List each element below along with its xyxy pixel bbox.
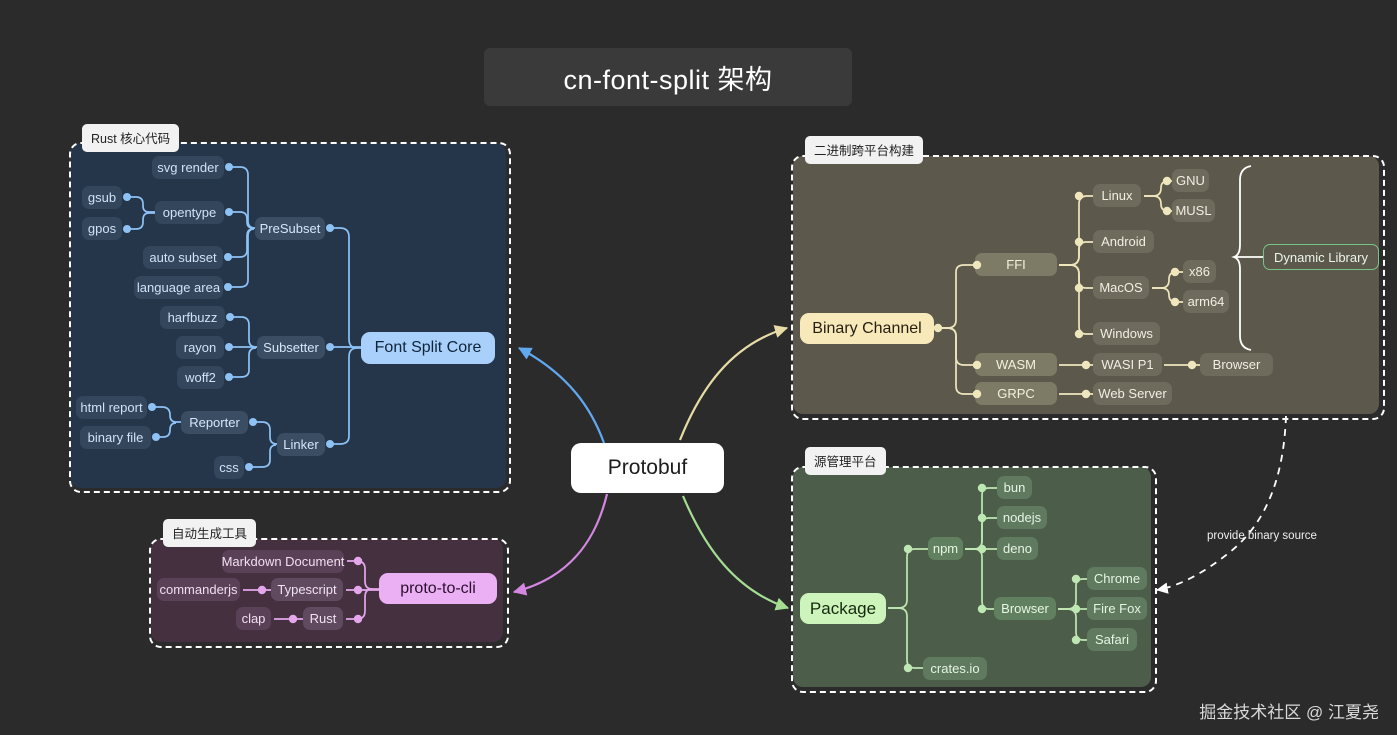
node-chrome[interactable]: Chrome: [1087, 567, 1147, 590]
node-x86[interactable]: x86: [1183, 260, 1216, 283]
watermark: 掘金技术社区 @ 江夏尧: [1199, 698, 1379, 723]
node-harfbuzz[interactable]: harfbuzz: [160, 306, 225, 329]
node-rust[interactable]: Rust: [303, 607, 343, 630]
node-nodejs[interactable]: nodejs: [997, 506, 1047, 529]
node-binary-file[interactable]: binary file: [80, 426, 151, 449]
group-label-auto-tools: 自动生成工具: [163, 519, 256, 547]
node-bun[interactable]: bun: [997, 476, 1032, 499]
node-css[interactable]: css: [214, 456, 244, 479]
node-wasm[interactable]: WASM: [975, 353, 1057, 376]
node-woff2[interactable]: woff2: [177, 366, 224, 389]
node-commanderjs[interactable]: commanderjs: [157, 578, 240, 601]
node-android[interactable]: Android: [1093, 230, 1154, 253]
node-deno[interactable]: deno: [997, 537, 1038, 560]
node-musl[interactable]: MUSL: [1172, 199, 1215, 222]
group-label-rust-core: Rust 核心代码: [82, 124, 179, 152]
node-proto-to-cli[interactable]: proto-to-cli: [379, 573, 497, 604]
node-browser-package[interactable]: Browser: [994, 597, 1056, 620]
edge-label-provide-binary-source: provide binary source: [1207, 530, 1317, 542]
node-reporter[interactable]: Reporter: [181, 411, 248, 434]
node-presubset[interactable]: PreSubset: [255, 217, 325, 240]
group-label-binary-build: 二进制跨平台构建: [805, 136, 923, 164]
node-windows[interactable]: Windows: [1093, 322, 1160, 345]
node-crates-io[interactable]: crates.io: [923, 657, 987, 680]
node-gpos[interactable]: gpos: [82, 217, 122, 240]
node-ffi[interactable]: FFI: [975, 253, 1057, 276]
node-npm[interactable]: npm: [928, 537, 963, 560]
node-protobuf[interactable]: Protobuf: [571, 443, 724, 493]
node-gsub[interactable]: gsub: [82, 186, 122, 209]
node-subsetter[interactable]: Subsetter: [257, 336, 325, 359]
node-macos[interactable]: MacOS: [1093, 276, 1149, 299]
group-binary-build: [791, 155, 1385, 420]
node-clap[interactable]: clap: [236, 607, 271, 630]
node-dynamic-library[interactable]: Dynamic Library: [1263, 244, 1379, 270]
node-browser-binary[interactable]: Browser: [1200, 353, 1273, 376]
node-language-area[interactable]: language area: [134, 276, 223, 299]
node-markdown-document[interactable]: Markdown Document: [222, 550, 344, 573]
node-opentype[interactable]: opentype: [155, 201, 224, 224]
node-firefox[interactable]: Fire Fox: [1087, 597, 1147, 620]
group-label-package-platform: 源管理平台: [805, 447, 886, 475]
node-rayon[interactable]: rayon: [176, 336, 224, 359]
node-html-report[interactable]: html report: [76, 396, 147, 419]
node-binary-channel[interactable]: Binary Channel: [800, 313, 934, 344]
node-grpc[interactable]: GRPC: [975, 382, 1057, 405]
node-web-server[interactable]: Web Server: [1093, 382, 1172, 405]
node-gnu[interactable]: GNU: [1172, 169, 1209, 192]
node-package[interactable]: Package: [800, 593, 886, 624]
page-title: cn-font-split 架构: [484, 48, 852, 106]
node-safari[interactable]: Safari: [1087, 628, 1137, 651]
node-font-split-core[interactable]: Font Split Core: [361, 332, 495, 364]
node-wasi-p1[interactable]: WASI P1: [1093, 353, 1162, 376]
node-arm64[interactable]: arm64: [1183, 290, 1229, 313]
node-svg-render[interactable]: svg render: [152, 156, 224, 179]
node-linker[interactable]: Linker: [277, 433, 325, 456]
node-typescript[interactable]: Typescript: [271, 578, 343, 601]
node-auto-subset[interactable]: auto subset: [143, 246, 223, 269]
node-linux[interactable]: Linux: [1093, 184, 1141, 207]
